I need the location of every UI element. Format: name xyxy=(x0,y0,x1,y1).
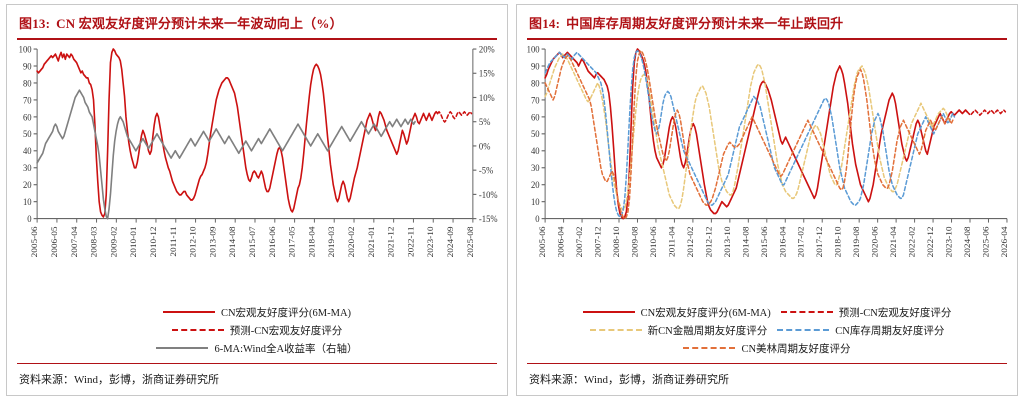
svg-text:2012-02: 2012-02 xyxy=(685,226,694,257)
svg-text:2014-08: 2014-08 xyxy=(741,225,750,256)
svg-text:70: 70 xyxy=(23,94,32,105)
svg-text:2021-01: 2021-01 xyxy=(366,226,375,257)
legend-swatch-dashed-red xyxy=(172,329,224,331)
legend-item: CN宏观友好度评分(6M-MA) xyxy=(583,305,771,320)
svg-text:0: 0 xyxy=(535,213,540,224)
svg-text:0%: 0% xyxy=(479,140,491,151)
svg-text:2016-06: 2016-06 xyxy=(267,225,276,256)
svg-text:2017-05: 2017-05 xyxy=(287,225,296,256)
svg-text:2011-04: 2011-04 xyxy=(667,225,676,256)
legend-label: 6-MA:Wind全A收益率（右轴） xyxy=(214,341,357,356)
legend-row: CN宏观友好度评分(6M-MA) xyxy=(7,305,507,320)
svg-text:40: 40 xyxy=(531,145,540,156)
figure-panel-13: 图13:CN 宏观友好度评分预计未来一年波动向上（%） 010203040506… xyxy=(6,4,508,396)
figure-14-title-text: 中国库存周期友好度评分预计未来一年止跌回升 xyxy=(566,16,843,31)
svg-text:0: 0 xyxy=(27,213,32,224)
svg-text:2007-04: 2007-04 xyxy=(69,225,78,256)
legend-label: 预测-CN宏观友好度评分 xyxy=(230,323,343,338)
svg-text:30: 30 xyxy=(531,162,540,173)
figure-14-number: 图14: xyxy=(529,16,560,31)
figure-13-plot: 0102030405060708090100-15%-10%-5%0%5%10%… xyxy=(7,40,507,300)
svg-text:2021-04: 2021-04 xyxy=(889,225,898,256)
svg-text:2024-08: 2024-08 xyxy=(962,225,971,256)
legend-swatch-dashed-orange xyxy=(683,347,735,349)
svg-text:2022-11: 2022-11 xyxy=(406,226,415,256)
svg-text:70: 70 xyxy=(531,94,540,105)
svg-text:2016-04: 2016-04 xyxy=(778,225,787,256)
legend-swatch-solid-red xyxy=(163,311,215,313)
svg-text:2025-06: 2025-06 xyxy=(981,225,990,256)
svg-text:50: 50 xyxy=(23,128,32,139)
figure-14-chart: 01020304050607080901002005-062006-042007… xyxy=(517,40,1017,300)
legend-item: CN库存周期友好度评分 xyxy=(777,323,944,338)
svg-text:100: 100 xyxy=(19,44,32,55)
svg-text:2015-06: 2015-06 xyxy=(759,225,768,256)
svg-text:-15%: -15% xyxy=(479,213,498,224)
svg-text:2018-04: 2018-04 xyxy=(307,225,316,256)
svg-text:2008-03: 2008-03 xyxy=(89,225,98,256)
legend-label: CN库存周期友好度评分 xyxy=(835,323,944,338)
figure-14-plot: 01020304050607080901002005-062006-042007… xyxy=(517,40,1017,300)
svg-text:2017-02: 2017-02 xyxy=(796,226,805,257)
figure-13-title: 图13:CN 宏观友好度评分预计未来一年波动向上（%） xyxy=(7,5,507,38)
legend-label: 预测-CN宏观友好度评分 xyxy=(839,305,952,320)
legend-item: CN宏观友好度评分(6M-MA) xyxy=(163,305,351,320)
svg-text:2011-11: 2011-11 xyxy=(168,226,177,256)
svg-text:20: 20 xyxy=(23,179,32,190)
svg-text:50: 50 xyxy=(531,128,540,139)
svg-text:2026-04: 2026-04 xyxy=(999,225,1008,256)
svg-text:2020-06: 2020-06 xyxy=(870,225,879,256)
svg-text:2022-02: 2022-02 xyxy=(907,226,916,257)
legend-swatch-dashed-red xyxy=(781,311,833,313)
figure-13-chart: 0102030405060708090100-15%-10%-5%0%5%10%… xyxy=(7,40,507,300)
svg-text:2014-08: 2014-08 xyxy=(228,225,237,256)
svg-text:100: 100 xyxy=(527,44,540,55)
svg-text:2006-05: 2006-05 xyxy=(49,225,58,256)
svg-text:2010-06: 2010-06 xyxy=(648,225,657,256)
svg-text:2005-06: 2005-06 xyxy=(538,225,547,256)
svg-text:5%: 5% xyxy=(479,116,491,127)
svg-text:20: 20 xyxy=(531,179,540,190)
svg-text:2007-02: 2007-02 xyxy=(575,226,584,257)
legend-row: 新CN金融周期友好度评分 CN库存周期友好度评分 xyxy=(517,323,1017,338)
svg-text:2005-06: 2005-06 xyxy=(30,225,39,256)
svg-text:2022-12: 2022-12 xyxy=(926,226,935,257)
svg-text:30: 30 xyxy=(23,162,32,173)
svg-text:2012-10: 2012-10 xyxy=(188,225,197,256)
svg-text:2012-12: 2012-12 xyxy=(704,226,713,257)
svg-text:90: 90 xyxy=(23,61,32,72)
svg-text:80: 80 xyxy=(531,77,540,88)
svg-text:-10%: -10% xyxy=(479,189,498,200)
svg-text:2025-08: 2025-08 xyxy=(465,225,474,256)
svg-text:2013-09: 2013-09 xyxy=(208,225,217,256)
figure-13-title-text: CN 宏观友好度评分预计未来一年波动向上（%） xyxy=(56,16,343,31)
svg-text:2019-08: 2019-08 xyxy=(852,225,861,256)
legend-swatch-solid-gray xyxy=(156,347,208,349)
legend-item: 预测-CN宏观友好度评分 xyxy=(172,323,343,338)
svg-text:-5%: -5% xyxy=(479,165,494,176)
figure-panel-14: 图14:中国库存周期友好度评分预计未来一年止跌回升 01020304050607… xyxy=(516,4,1018,396)
legend-row: CN美林周期友好度评分 xyxy=(517,341,1017,356)
legend-label: CN宏观友好度评分(6M-MA) xyxy=(641,305,771,320)
figure-13-legend: CN宏观友好度评分(6M-MA) 预测-CN宏观友好度评分 6-MA:Wind全… xyxy=(7,300,507,363)
svg-text:2006-04: 2006-04 xyxy=(556,225,565,256)
legend-label: CN美林周期友好度评分 xyxy=(741,341,850,356)
legend-item: 新CN金融周期友好度评分 xyxy=(590,323,768,338)
figures-sheet: 图13:CN 宏观友好度评分预计未来一年波动向上（%） 010203040506… xyxy=(0,0,1024,400)
svg-text:90: 90 xyxy=(531,61,540,72)
svg-text:2013-10: 2013-10 xyxy=(722,225,731,256)
legend-row: 预测-CN宏观友好度评分 xyxy=(7,323,507,338)
svg-text:2009-02: 2009-02 xyxy=(109,226,118,257)
svg-text:40: 40 xyxy=(23,145,32,156)
legend-swatch-dashed-blue xyxy=(777,329,829,331)
legend-item: 6-MA:Wind全A收益率（右轴） xyxy=(156,341,357,356)
svg-text:2023-10: 2023-10 xyxy=(944,225,953,256)
legend-swatch-dashed-tan xyxy=(590,329,642,331)
svg-text:2009-08: 2009-08 xyxy=(630,225,639,256)
figure-14-source: 资料来源：Wind，彭博，浙商证券研究所 xyxy=(517,364,1017,395)
svg-text:2024-09: 2024-09 xyxy=(446,225,455,256)
figure-13-number: 图13: xyxy=(19,16,50,31)
svg-text:2018-10: 2018-10 xyxy=(833,225,842,256)
svg-text:2008-10: 2008-10 xyxy=(611,225,620,256)
legend-item: 预测-CN宏观友好度评分 xyxy=(781,305,952,320)
figure-14-legend: CN宏观友好度评分(6M-MA) 预测-CN宏观友好度评分 新CN金融周期友好度… xyxy=(517,300,1017,363)
svg-text:2010-12: 2010-12 xyxy=(148,226,157,257)
svg-text:80: 80 xyxy=(23,77,32,88)
svg-text:10: 10 xyxy=(531,196,540,207)
svg-text:60: 60 xyxy=(531,111,540,122)
svg-text:2023-10: 2023-10 xyxy=(426,225,435,256)
svg-text:2019-03: 2019-03 xyxy=(327,225,336,256)
svg-text:2007-12: 2007-12 xyxy=(593,226,602,257)
legend-label: CN宏观友好度评分(6M-MA) xyxy=(221,305,351,320)
legend-item: CN美林周期友好度评分 xyxy=(683,341,850,356)
svg-text:2015-07: 2015-07 xyxy=(247,225,256,256)
svg-text:2010-01: 2010-01 xyxy=(129,226,138,257)
svg-text:2021-12: 2021-12 xyxy=(386,226,395,257)
svg-text:60: 60 xyxy=(23,111,32,122)
svg-text:10%: 10% xyxy=(479,92,495,103)
svg-text:2017-12: 2017-12 xyxy=(815,226,824,257)
svg-text:20%: 20% xyxy=(479,44,495,55)
legend-swatch-solid-red xyxy=(583,311,635,313)
svg-text:2020-02: 2020-02 xyxy=(346,226,355,257)
figure-14-title: 图14:中国库存周期友好度评分预计未来一年止跌回升 xyxy=(517,5,1017,38)
figure-13-source: 资料来源：Wind，彭博，浙商证券研究所 xyxy=(7,364,507,395)
legend-row: 6-MA:Wind全A收益率（右轴） xyxy=(7,341,507,356)
legend-label: 新CN金融周期友好度评分 xyxy=(648,323,768,338)
svg-text:10: 10 xyxy=(23,196,32,207)
svg-text:15%: 15% xyxy=(479,68,495,79)
legend-row: CN宏观友好度评分(6M-MA) 预测-CN宏观友好度评分 xyxy=(517,305,1017,320)
